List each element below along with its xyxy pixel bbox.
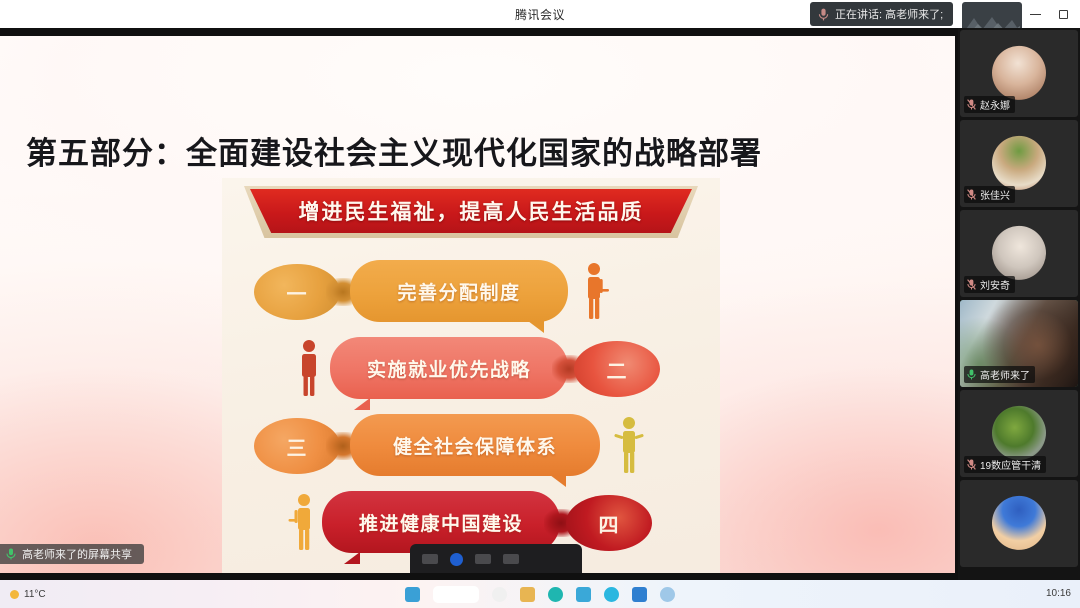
microphone-muted-icon — [967, 279, 976, 290]
item-number: 二 — [574, 341, 660, 397]
taskbar-app-icons[interactable] — [405, 586, 675, 603]
infographic-card: 增进民生福祉，提高人民生活品质 一 完善分配制度 — [222, 178, 720, 573]
taskbar-clock[interactable]: 10:16 — [1046, 589, 1071, 600]
infographic-row: 一 完善分配制度 — [222, 256, 720, 328]
avatar — [992, 495, 1046, 549]
microphone-muted-icon — [967, 99, 976, 110]
participant-tile[interactable] — [960, 480, 1078, 567]
item-text: 健全社会保障体系 — [393, 432, 557, 459]
share-toolbar[interactable] — [410, 544, 582, 573]
taskbar-icon-widgets[interactable] — [492, 587, 507, 602]
item-number: 四 — [566, 495, 652, 551]
toolbar-icon-share[interactable] — [475, 554, 491, 564]
windows-taskbar[interactable]: 11°C 10:16 — [0, 580, 1080, 608]
speaking-indicator: 正在讲话: 高老师来了; — [810, 2, 953, 26]
person-icon — [294, 339, 324, 397]
weather-temperature: 11°C — [24, 589, 46, 600]
participant-tile[interactable]: 张佳兴 — [960, 120, 1078, 207]
participant-nametag: 19数应管干清 — [964, 456, 1046, 473]
tencent-meeting-window: 腾讯会议 正在讲话: 高老师来了; — [0, 0, 1080, 608]
microphone-active-icon — [6, 548, 16, 560]
participant-name: 赵永娜 — [980, 97, 1010, 112]
toolbar-icon-more[interactable] — [503, 554, 519, 564]
participant-name: 刘安奇 — [980, 277, 1010, 292]
screen-share-label: 高老师来了的屏幕共享 — [22, 546, 132, 562]
participant-nametag: 赵永娜 — [964, 96, 1015, 113]
infographic-banner: 增进民生福祉，提高人民生活品质 — [244, 186, 698, 238]
taskbar-icon-meeting[interactable] — [548, 587, 563, 602]
taskbar-icon-app[interactable] — [604, 587, 619, 602]
item-number-blob: 二 — [574, 341, 660, 397]
participant-tile[interactable]: 刘安奇 — [960, 210, 1078, 297]
participant-sidebar[interactable]: 赵永娜 张佳兴 — [958, 28, 1080, 580]
maximize-button[interactable] — [1050, 1, 1076, 27]
sun-icon — [10, 590, 19, 599]
taskbar-weather-widget[interactable]: 11°C — [10, 589, 46, 600]
microphone-muted-icon — [967, 459, 976, 470]
participant-nametag: 张佳兴 — [964, 186, 1015, 203]
avatar — [992, 135, 1046, 189]
minimize-button[interactable] — [1022, 1, 1048, 27]
participant-tile[interactable]: 赵永娜 — [960, 30, 1078, 117]
taskbar-icon-explorer[interactable] — [520, 587, 535, 602]
bubble-tail — [550, 475, 566, 487]
participant-name: 张佳兴 — [980, 187, 1010, 202]
presentation-slide: 第五部分：全面建设社会主义现代化国家的战略部署 2023/1/4 增进民生福祉，… — [0, 36, 955, 573]
person-icon — [288, 493, 318, 551]
person-icon — [580, 262, 610, 320]
taskbar-icon-store[interactable] — [632, 587, 647, 602]
item-text: 推进健康中国建设 — [359, 509, 523, 536]
participant-nametag: 高老师来了 — [964, 366, 1035, 383]
meeting-body: 第五部分：全面建设社会主义现代化国家的战略部署 2023/1/4 增进民生福祉，… — [0, 28, 1080, 580]
microphone-active-icon — [967, 369, 976, 380]
infographic-row: 实施就业优先战略 二 — [222, 333, 720, 405]
clock-time: 10:16 — [1046, 589, 1071, 600]
item-text: 实施就业优先战略 — [367, 355, 531, 382]
participant-name: 高老师来了 — [980, 367, 1030, 382]
avatar — [992, 45, 1046, 99]
bubble-tail — [344, 552, 360, 564]
person-icon — [614, 416, 644, 474]
screen-share-banner: 高老师来了的屏幕共享 — [0, 544, 144, 564]
avatar — [992, 405, 1046, 459]
item-text: 完善分配制度 — [397, 278, 520, 305]
microphone-muted-icon — [967, 189, 976, 200]
participant-nametag: 刘安奇 — [964, 276, 1015, 293]
taskbar-icon-start[interactable] — [405, 587, 420, 602]
slide-title: 第五部分：全面建设社会主义现代化国家的战略部署 — [26, 128, 762, 173]
item-number-blob: 四 — [566, 495, 652, 551]
participant-tile[interactable]: 19数应管干清 — [960, 390, 1078, 477]
taskbar-icon-other[interactable] — [660, 587, 675, 602]
item-bubble: 实施就业优先战略 — [330, 337, 568, 399]
window-titlebar: 腾讯会议 正在讲话: 高老师来了; — [0, 0, 1080, 28]
item-bubble: 完善分配制度 — [350, 260, 568, 322]
taskbar-search-box[interactable] — [433, 586, 479, 603]
banner-text: 增进民生福祉，提高人民生活品质 — [299, 196, 644, 226]
shared-screen-stage[interactable]: 第五部分：全面建设社会主义现代化国家的战略部署 2023/1/4 增进民生福祉，… — [0, 36, 955, 573]
microphone-icon — [818, 8, 829, 21]
toolbar-icon-video[interactable] — [450, 553, 463, 566]
banner-fill: 增进民生福祉，提高人民生活品质 — [250, 189, 692, 233]
window-controls — [1022, 0, 1076, 28]
item-bubble: 健全社会保障体系 — [350, 414, 600, 476]
bubble-tail — [528, 321, 544, 333]
participant-tile-active-speaker[interactable]: 高老师来了 — [960, 300, 1078, 387]
bubble-tail — [354, 398, 370, 410]
taskbar-icon-edge[interactable] — [576, 587, 591, 602]
avatar — [992, 225, 1046, 279]
participant-name: 19数应管干清 — [980, 457, 1041, 472]
infographic-row: 三 健全社会保障体系 — [222, 410, 720, 482]
toolbar-icon-mute[interactable] — [422, 554, 438, 564]
speaking-label: 正在讲话: 高老师来了; — [835, 6, 943, 22]
